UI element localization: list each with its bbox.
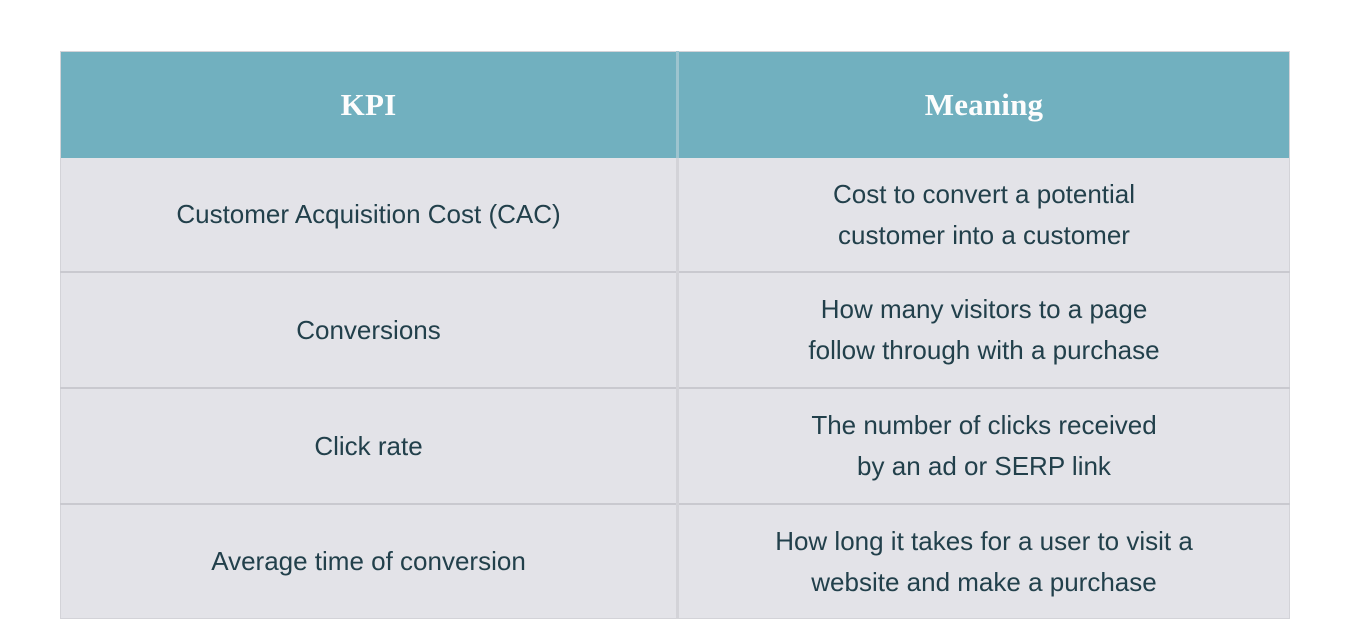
cell-kpi-meaning: Cost to convert a potential customer int…: [678, 158, 1290, 272]
cell-meaning-line: How many visitors to a page: [693, 289, 1275, 330]
page-root: KPI Meaning Customer Acquisition Cost (C…: [0, 0, 1350, 600]
cell-kpi-meaning: How long it takes for a user to visit a …: [678, 504, 1290, 619]
cell-meaning-line: follow through with a purchase: [693, 330, 1275, 371]
cell-kpi-name: Average time of conversion: [61, 504, 678, 619]
cell-meaning-line: customer into a customer: [693, 215, 1275, 256]
cell-meaning-line: Cost to convert a potential: [693, 174, 1275, 215]
cell-meaning-line: How long it takes for a user to visit a: [693, 521, 1275, 562]
table-header-row: KPI Meaning: [61, 52, 1290, 159]
column-header-kpi: KPI: [61, 52, 678, 159]
column-header-meaning: Meaning: [678, 52, 1290, 159]
cell-kpi-name: Click rate: [61, 388, 678, 504]
table-body: Customer Acquisition Cost (CAC) Cost to …: [61, 158, 1290, 619]
cell-kpi-meaning: The number of clicks received by an ad o…: [678, 388, 1290, 504]
cell-kpi-name: Conversions: [61, 272, 678, 388]
table-header: KPI Meaning: [61, 52, 1290, 159]
table-row: Conversions How many visitors to a page …: [61, 272, 1290, 388]
cell-meaning-line: The number of clicks received: [693, 405, 1275, 446]
table-row: Average time of conversion How long it t…: [61, 504, 1290, 619]
cell-kpi-name: Customer Acquisition Cost (CAC): [61, 158, 678, 272]
table-row: Click rate The number of clicks received…: [61, 388, 1290, 504]
cell-meaning-line: website and make a purchase: [693, 562, 1275, 603]
cell-meaning-line: by an ad or SERP link: [693, 446, 1275, 487]
table-row: Customer Acquisition Cost (CAC) Cost to …: [61, 158, 1290, 272]
kpi-table: KPI Meaning Customer Acquisition Cost (C…: [60, 51, 1290, 619]
cell-kpi-meaning: How many visitors to a page follow throu…: [678, 272, 1290, 388]
kpi-table-container: KPI Meaning Customer Acquisition Cost (C…: [60, 51, 1289, 549]
